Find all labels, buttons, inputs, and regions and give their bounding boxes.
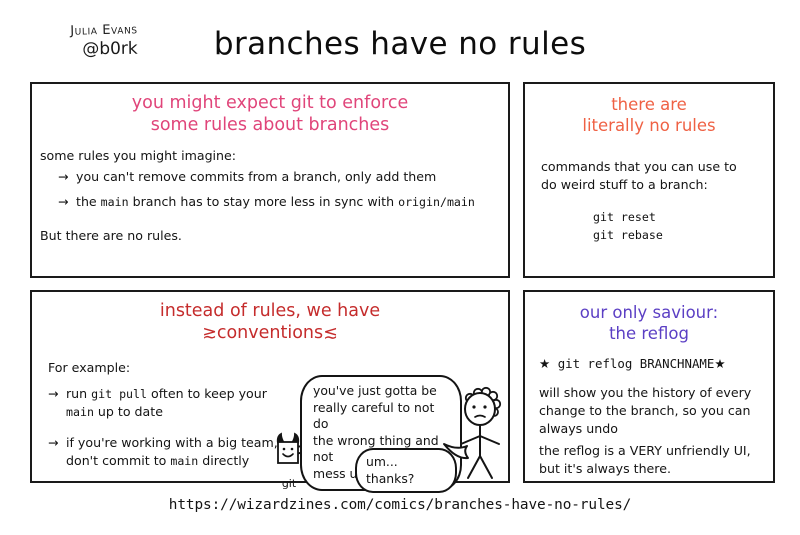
list-item: → you can't remove commits from a branch… bbox=[58, 168, 498, 186]
comic-title: branches have no rules bbox=[0, 26, 800, 62]
panel-2-lead-line-2: do weird stuff to a branch: bbox=[541, 176, 767, 194]
list-item: → the main branch has to stay more less … bbox=[58, 193, 498, 211]
panel-1-bullet-2-code-origin-main: origin/main bbox=[398, 195, 475, 209]
panel-1-heading: you might expect git to enforce some rul… bbox=[32, 84, 508, 137]
git-mascot-icon bbox=[272, 432, 306, 472]
panel-1-bullet-1-text: you can't remove commits from a branch, … bbox=[76, 169, 436, 184]
panel-3-heading-line-2: ≳conventions≲ bbox=[32, 322, 508, 344]
panel-4-heading: our only saviour: the reflog bbox=[525, 292, 773, 344]
panel-3-bubble-small-text: um... thanks? bbox=[366, 454, 414, 486]
panel-3-bullet-list: → run git pull often to keep your main u… bbox=[48, 385, 288, 483]
panel-2-heading: there are literally no rules bbox=[525, 84, 773, 136]
git-mascot-label: git bbox=[272, 477, 306, 490]
person-reply-bubble: um... thanks? bbox=[355, 448, 457, 493]
panel-3-bullet-1-code-main: main bbox=[66, 405, 94, 419]
panel-3-heading: instead of rules, we have ≳conventions≲ bbox=[32, 292, 508, 345]
panel-3-bubble-line-1: you've just gotta be bbox=[313, 383, 449, 400]
list-item: → run git pull often to keep your main u… bbox=[48, 385, 288, 421]
panel-1-bullet-2-code-main: main bbox=[101, 195, 129, 209]
arrow-icon: → bbox=[58, 193, 68, 211]
panel-3-bullet-2-part-b: directly bbox=[198, 453, 249, 468]
panel-2-command-list: git reset git rebase bbox=[593, 209, 663, 244]
panel-4-heading-line-2: the reflog bbox=[525, 323, 773, 344]
panel-1-outro-text: But there are no rules. bbox=[40, 227, 182, 245]
command-git-rebase: git rebase bbox=[593, 227, 663, 245]
panel-3-bullet-1-code-git-pull: git pull bbox=[91, 387, 147, 401]
panel-1-heading-line-2: some rules about branches bbox=[32, 114, 508, 136]
panel-2-heading-line-1: there are bbox=[525, 94, 773, 115]
arrow-icon: → bbox=[48, 385, 58, 403]
panel-3-bullet-1-part-b: often to keep your bbox=[147, 386, 267, 401]
panel-4-paragraph-1: will show you the history of every chang… bbox=[539, 384, 767, 438]
arrow-icon: → bbox=[58, 168, 68, 186]
panel-3-bullet-1-part-a: run bbox=[66, 386, 91, 401]
panel-4-heading-line-1: our only saviour: bbox=[525, 302, 773, 323]
panel-reflog: our only saviour: the reflog ★ git reflo… bbox=[523, 290, 775, 483]
panel-3-bubble-line-2: really careful to not do bbox=[313, 400, 449, 433]
source-url[interactable]: https://wizardzines.com/comics/branches-… bbox=[0, 497, 800, 513]
panel-1-heading-line-1: you might expect git to enforce bbox=[32, 92, 508, 114]
panel-1-bullet-2-part-b: branch has to stay more less in sync wit… bbox=[129, 194, 399, 209]
star-icon: ★ bbox=[714, 356, 725, 371]
panel-2-lead-text: commands that you can use to do weird st… bbox=[541, 158, 767, 194]
panel-4-paragraph-2: the reflog is a VERY unfriendly UI, but … bbox=[539, 442, 771, 478]
panel-1-bullet-list: → you can't remove commits from a branch… bbox=[58, 168, 498, 218]
panel-no-rules: there are literally no rules commands th… bbox=[523, 82, 775, 278]
arrow-icon: → bbox=[48, 434, 58, 452]
command-git-reset: git reset bbox=[593, 209, 663, 227]
panel-2-heading-line-2: literally no rules bbox=[525, 115, 773, 136]
panel-3-intro-text: For example: bbox=[48, 359, 130, 377]
panel-1-intro-text: some rules you might imagine: bbox=[40, 147, 236, 165]
panel-3-heading-line-1: instead of rules, we have bbox=[32, 300, 508, 322]
panel-4-command-text: git reflog BRANCHNAME bbox=[558, 356, 715, 371]
panel-3-bullet-1-part-c: up to date bbox=[94, 404, 163, 419]
panel-expected-rules: you might expect git to enforce some rul… bbox=[30, 82, 510, 278]
git-mascot: git bbox=[272, 432, 306, 490]
panel-2-lead-line-1: commands that you can use to bbox=[541, 158, 767, 176]
panel-3-bullet-2-code-main: main bbox=[170, 454, 198, 468]
panel-1-bullet-2-part-a: the bbox=[76, 194, 101, 209]
panel-4-featured-command: ★ git reflog BRANCHNAME★ bbox=[539, 356, 726, 371]
list-item: → if you're working with a big team, don… bbox=[48, 434, 288, 470]
star-icon: ★ bbox=[539, 356, 550, 371]
